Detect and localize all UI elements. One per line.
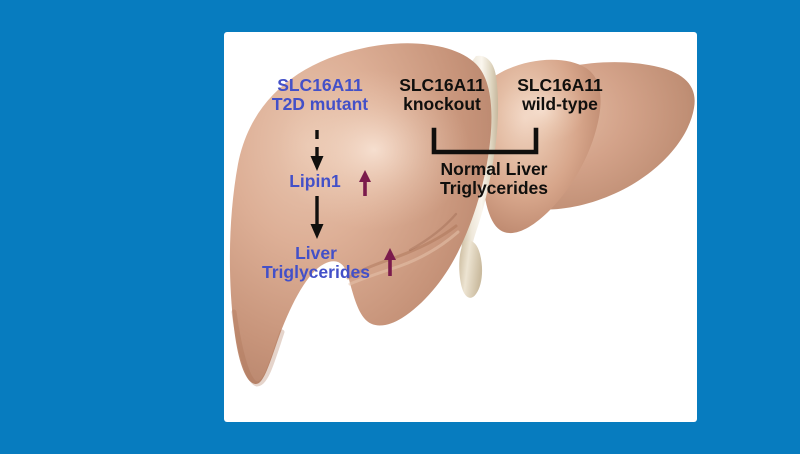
cover-graphic: Cell Reports [0,0,800,454]
liver-highlight-secondary [498,76,586,144]
gallbladder [459,241,482,298]
figure-card: SLC16A11 T2D mutant Lipin1 Liver Triglyc… [224,32,697,422]
liver-illustration [224,32,697,422]
